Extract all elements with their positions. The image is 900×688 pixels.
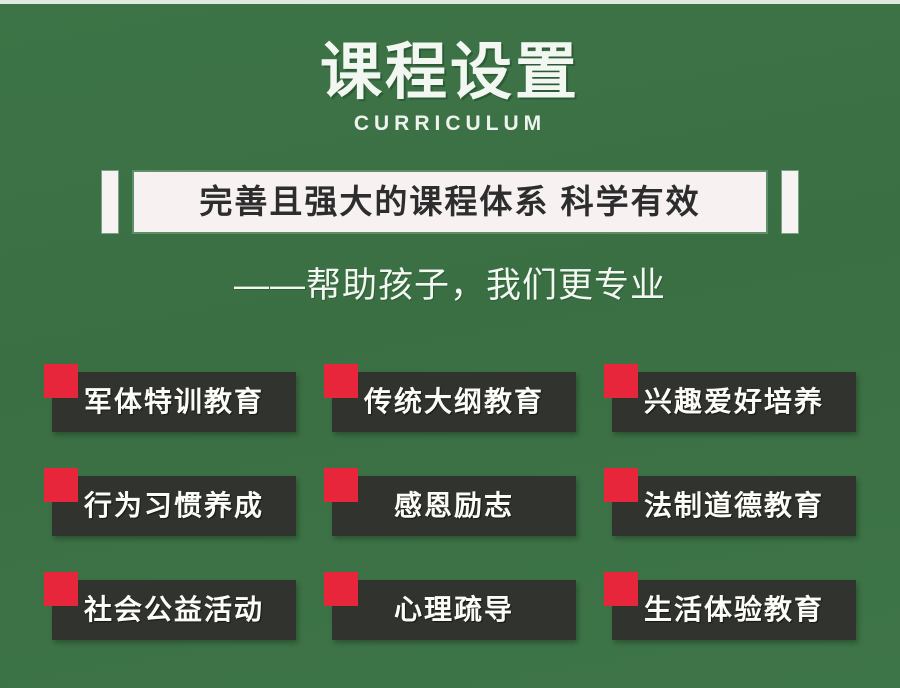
curriculum-card-3[interactable]: 兴趣爱好培养 [604,364,856,432]
banner-box: 完善且强大的课程体系 科学有效 [132,170,768,234]
red-square-icon [324,572,358,606]
curriculum-card-9[interactable]: 生活体验教育 [604,572,856,640]
card-body[interactable]: 社会公益活动 [52,580,296,640]
card-body[interactable]: 感恩励志 [332,476,576,536]
card-body[interactable]: 法制道德教育 [612,476,856,536]
top-edge-strip [0,0,900,4]
card-body[interactable]: 军体特训教育 [52,372,296,432]
page-subtitle-english: CURRICULUM [0,112,900,136]
curriculum-card-6[interactable]: 法制道德教育 [604,468,856,536]
curriculum-card-5[interactable]: 感恩励志 [324,468,576,536]
red-square-icon [324,468,358,502]
page-title: 课程设置 [0,38,900,108]
card-label: 生活体验教育 [644,594,824,626]
tagline: ——帮助孩子，我们更专业 [0,264,900,308]
card-body[interactable]: 心理疏导 [332,580,576,640]
card-label: 感恩励志 [394,490,514,522]
card-body[interactable]: 传统大纲教育 [332,372,576,432]
curriculum-card-1[interactable]: 军体特训教育 [44,364,296,432]
red-square-icon [604,572,638,606]
red-square-icon [604,364,638,398]
banner-tick-left [101,170,119,234]
card-body[interactable]: 生活体验教育 [612,580,856,640]
card-body[interactable]: 兴趣爱好培养 [612,372,856,432]
banner-tick-right [781,170,799,234]
curriculum-card-8[interactable]: 心理疏导 [324,572,576,640]
banner: 完善且强大的课程体系 科学有效 [0,170,900,234]
card-label: 行为习惯养成 [84,490,264,522]
curriculum-card-4[interactable]: 行为习惯养成 [44,468,296,536]
curriculum-card-7[interactable]: 社会公益活动 [44,572,296,640]
red-square-icon [44,364,78,398]
red-square-icon [44,572,78,606]
card-label: 心理疏导 [394,594,514,626]
red-square-icon [44,468,78,502]
banner-text: 完善且强大的课程体系 科学有效 [199,183,700,221]
curriculum-card-2[interactable]: 传统大纲教育 [324,364,576,432]
red-square-icon [324,364,358,398]
card-body[interactable]: 行为习惯养成 [52,476,296,536]
card-label: 传统大纲教育 [364,386,544,418]
card-label: 军体特训教育 [84,386,264,418]
card-label: 社会公益活动 [84,594,264,626]
card-label: 兴趣爱好培养 [644,386,824,418]
card-label: 法制道德教育 [644,490,824,522]
curriculum-card-grid: 军体特训教育 传统大纲教育 兴趣爱好培养 行为习惯养成 感恩励志 [44,364,856,640]
heading-block: 课程设置 CURRICULUM [0,38,900,136]
curriculum-poster: 课程设置 CURRICULUM 完善且强大的课程体系 科学有效 ——帮助孩子，我… [0,0,900,688]
red-square-icon [604,468,638,502]
